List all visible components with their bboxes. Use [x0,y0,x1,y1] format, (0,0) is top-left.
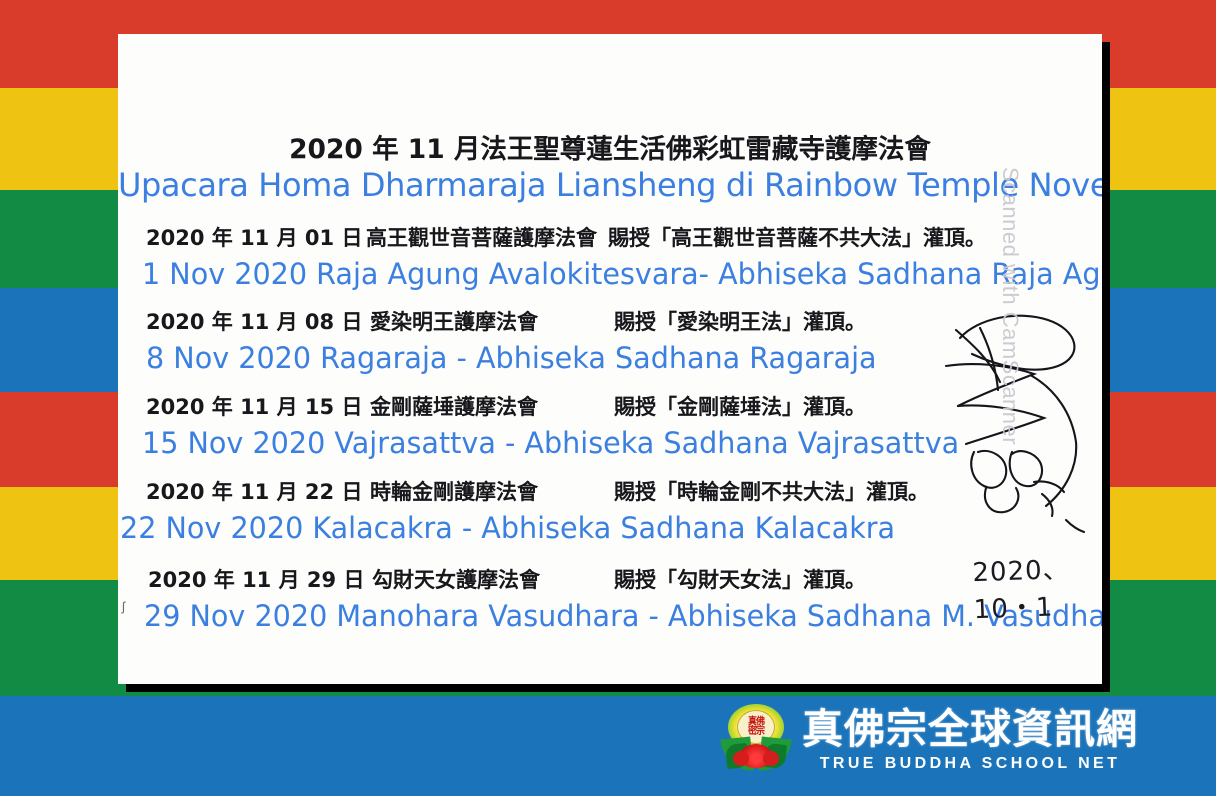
brand-lockup[interactable]: 真佛密宗 真佛宗全球資訊網 TRUE BUDDHA SCHOOL NET [720,702,1138,778]
document-content: 2020 年 11 月法王聖尊蓮生活佛彩虹雷藏寺護摩法會 Upacara Hom… [118,34,1102,684]
poster-root: 2020 年 11 月法王聖尊蓮生活佛彩虹雷藏寺護摩法會 Upacara Hom… [0,0,1216,796]
row-abhiseka-chinese: 賜授「高王觀世音菩薩不共大法」灌頂。 [608,222,986,252]
document-title-english: Upacara Homa Dharmaraja Liansheng di Rai… [118,166,1102,204]
row-date-chinese: 2020 年 11 月 22 日 [146,476,362,506]
row-abhiseka-chinese: 賜授「時輪金剛不共大法」灌頂。 [614,476,929,506]
row-date-chinese: 2020 年 11 月 15 日 [146,391,362,421]
row-date-chinese: 2020 年 11 月 01 日 [146,222,362,252]
row-english: 15 Nov 2020 Vajrasattva - Abhiseka Sadha… [142,426,959,460]
brand-band: 真佛密宗 真佛宗全球資訊網 TRUE BUDDHA SCHOOL NET [0,696,1216,796]
emblem-chars: 真佛密宗 [748,718,764,736]
signature-date: 2020、10・1 [972,548,1102,626]
camscanner-watermark: Scanned with CamScanner [997,167,1023,527]
true-buddha-emblem-icon: 真佛密宗 [720,702,792,778]
scanned-document-card: 2020 年 11 月法王聖尊蓮生活佛彩虹雷藏寺護摩法會 Upacara Hom… [118,34,1102,684]
row-date-chinese: 2020 年 11 月 29 日 [148,564,364,594]
row-abhiseka-chinese: 賜授「愛染明王法」灌頂。 [614,306,866,336]
row-abhiseka-chinese: 賜授「勾財天女法」灌頂。 [614,564,866,594]
brand-name-english: TRUE BUDDHA SCHOOL NET [802,753,1138,775]
row-event-chinese: 勾財天女護摩法會 [372,564,540,594]
stray-pen-mark: ʃ [122,599,125,614]
row-english: 8 Nov 2020 Ragaraja - Abhiseka Sadhana R… [146,341,877,375]
row-english: 22 Nov 2020 Kalacakra - Abhiseka Sadhana… [120,511,895,545]
brand-text: 真佛宗全球資訊網 TRUE BUDDHA SCHOOL NET [802,705,1138,775]
row-event-chinese: 時輪金剛護摩法會 [370,476,538,506]
row-abhiseka-chinese: 賜授「金剛薩埵法」灌頂。 [614,391,866,421]
row-english: 29 Nov 2020 Manohara Vasudhara - Abhisek… [144,599,1102,633]
document-title-chinese: 2020 年 11 月法王聖尊蓮生活佛彩虹雷藏寺護摩法會 [118,127,1102,166]
row-date-chinese: 2020 年 11 月 08 日 [146,306,362,336]
row-english: 1 Nov 2020 Raja Agung Avalokitesvara- Ab… [142,257,1102,291]
row-event-chinese: 金剛薩埵護摩法會 [370,391,538,421]
brand-name-chinese: 真佛宗全球資訊網 [802,705,1138,753]
row-event-chinese: 愛染明王護摩法會 [370,306,538,336]
row-event-chinese: 高王觀世音菩薩護摩法會 [366,222,597,252]
